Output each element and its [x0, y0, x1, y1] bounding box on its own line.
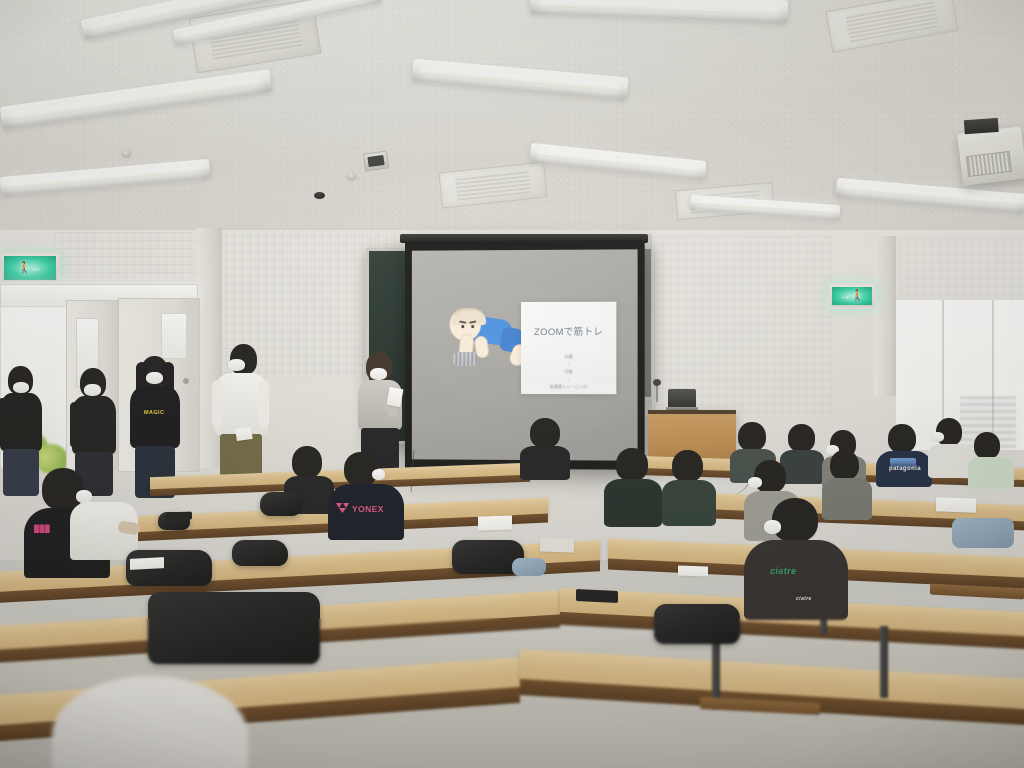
seated-student-mid-4 — [662, 450, 716, 526]
slide-line-1: 自重 — [521, 354, 616, 360]
door-window-pane-2 — [161, 313, 187, 360]
backpack-row2-center — [232, 540, 288, 566]
lecture-hall-photo: 🚶← →🚶 — [0, 0, 1024, 768]
exit-sign-left: 🚶← — [0, 252, 60, 284]
paper-on-desk-2 — [478, 515, 512, 530]
acoustic-panel-right — [646, 236, 832, 414]
paper-on-desk-4 — [936, 497, 976, 512]
seated-student-white-shirt — [70, 478, 138, 566]
sprinkler-head — [122, 150, 131, 156]
exit-runner-icon-2: →🚶 — [840, 291, 865, 302]
backpack-center-front — [148, 592, 320, 664]
bag-light-blue — [952, 518, 1014, 548]
ceiling-speaker — [363, 150, 389, 171]
smoke-detector-icon — [314, 192, 325, 199]
seated-student-ciatre: ciatre ciatre — [744, 498, 848, 618]
desk-leg-2 — [880, 626, 888, 698]
ceiling-projector — [957, 126, 1024, 185]
dumbbell-icon — [453, 352, 477, 366]
laptop-screen — [668, 389, 696, 407]
projector-grille — [966, 151, 1012, 177]
slide: ZOOMで筋トレ 自重 ・ 可動 ・ 有酸素トレーニング — [521, 302, 616, 394]
foreground-person-white-hair — [52, 676, 248, 768]
gloves-on-desk — [540, 537, 574, 552]
seated-student-back-1 — [520, 418, 570, 478]
seated-student-patagonia: patagonia — [876, 424, 932, 486]
slide-line-3: 可動 — [521, 369, 616, 375]
slide-line-4: ・ — [521, 377, 616, 383]
seated-student-yonex: YONEX — [328, 452, 404, 538]
handout-paper — [235, 427, 253, 441]
phone-on-desk[interactable] — [576, 589, 618, 603]
exit-runner-icon: 🚶← — [18, 263, 43, 274]
bag-light-blue-2 — [512, 558, 546, 576]
backpack-behind-yonex — [260, 492, 302, 516]
yonex-mark-icon — [336, 502, 352, 514]
projector-mount — [964, 118, 999, 134]
slide-line-2: ・ — [521, 362, 616, 368]
wall-pillar-right — [874, 236, 896, 396]
lectern-microphone — [656, 384, 658, 402]
slide-title: ZOOMで筋トレ — [521, 324, 616, 338]
pushup-illustration-icon — [445, 306, 523, 368]
patagonia-mountain-logo-icon — [890, 458, 916, 468]
seated-student-back-7 — [968, 432, 1014, 486]
door-knob-icon[interactable] — [183, 378, 189, 384]
paper-on-desk-1 — [130, 557, 164, 570]
backpack-ciatre-row — [654, 604, 740, 644]
phone-on-desk-2[interactable] — [166, 512, 192, 521]
slide-line-5: 有酸素トレーニング — [521, 384, 616, 390]
sprinkler-head-2 — [347, 173, 356, 179]
paper-on-desk-3 — [678, 565, 708, 576]
exit-sign-right: →🚶 — [828, 283, 876, 309]
laptop-on-lectern[interactable] — [666, 389, 698, 411]
seated-student-mid-3 — [604, 448, 662, 526]
